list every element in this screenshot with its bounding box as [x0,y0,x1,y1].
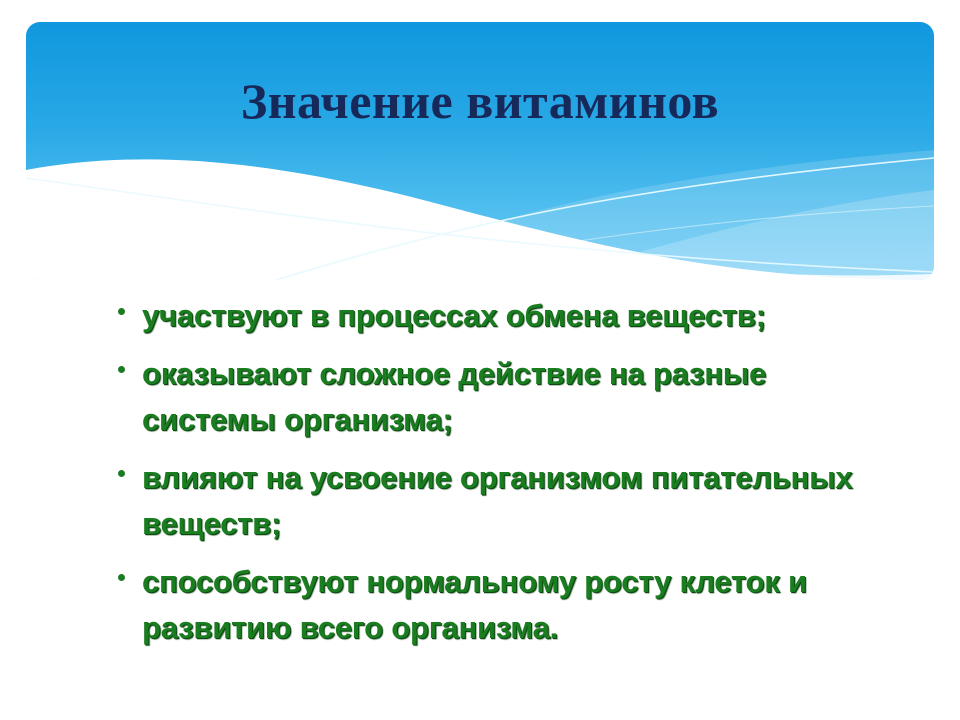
header-banner [26,22,934,280]
banner-graphic [26,22,934,280]
list-item-label: влияют на усвоение организмом питательны… [142,455,872,547]
page-title: Значение витаминов [0,72,960,130]
bullet-dot-icon [112,455,142,477]
bullet-dot-icon [112,559,142,581]
list-item: участвуют в процессах обмена веществ; [112,293,872,339]
bullet-dot-icon [112,293,142,315]
bullet-list: участвуют в процессах обмена веществ; ок… [112,293,872,663]
list-item: влияют на усвоение организмом питательны… [112,455,872,547]
list-item: способствуют нормальному росту клеток и … [112,559,872,651]
list-item-label: оказывают сложное действие на разные сис… [142,351,872,443]
bullet-dot-icon [112,351,142,373]
list-item-label: участвуют в процессах обмена веществ; [142,293,872,339]
list-item: оказывают сложное действие на разные сис… [112,351,872,443]
presentation-slide: Значение витаминов участвуют в процессах… [0,0,960,720]
list-item-label: способствуют нормальному росту клеток и … [142,559,872,651]
